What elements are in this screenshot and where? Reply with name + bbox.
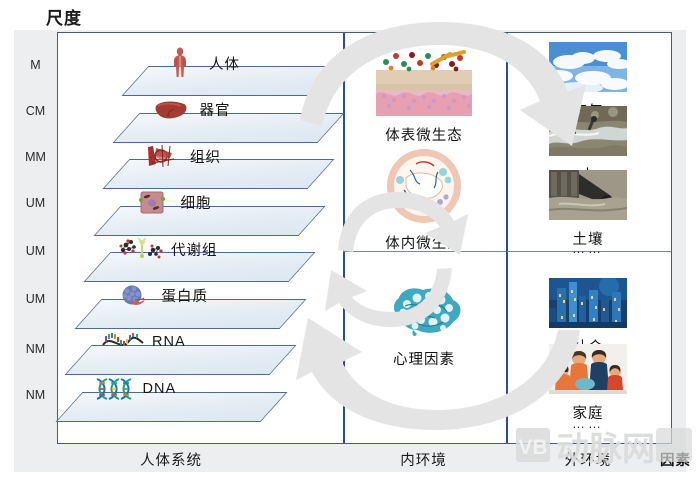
scale-label-2: MM bbox=[14, 150, 57, 164]
gut-microbiome-icon bbox=[386, 148, 462, 229]
sky-clouds-icon bbox=[549, 42, 627, 97]
scale-title: 尺度 bbox=[46, 4, 82, 29]
layer-plane-1[interactable] bbox=[112, 113, 344, 143]
layer-plane-3[interactable] bbox=[93, 206, 325, 236]
scale-label-4: UM bbox=[14, 244, 57, 258]
internal-item-label-0: 体表微生态 bbox=[343, 124, 505, 145]
diagram-canvas: 尺度 MCMMMUMUMUMNMNM 人体器官组织细胞代谢组蛋白质RNADNA … bbox=[0, 0, 700, 480]
layer-plane-0[interactable] bbox=[121, 66, 353, 96]
external-lower-item-1[interactable]: 家庭 bbox=[506, 344, 670, 423]
internal-item-label-1: 体内微生态 bbox=[343, 232, 505, 253]
scale-axis-column: MCMMMUMUMUMNMNM bbox=[14, 32, 57, 444]
water-stream-icon bbox=[549, 106, 627, 161]
layer-plane-6[interactable] bbox=[64, 345, 296, 375]
scale-label-1: CM bbox=[14, 104, 57, 118]
external-lower-more: …… bbox=[506, 416, 670, 431]
scale-label-5: UM bbox=[14, 292, 57, 306]
factor-label: 因素 bbox=[660, 449, 691, 470]
layer-plane-2[interactable] bbox=[102, 159, 334, 189]
caption-body-system: 人体系统 bbox=[57, 449, 285, 470]
external-upper-more: …… bbox=[506, 241, 670, 256]
internal-lower-item-0[interactable]: 心理因素 bbox=[343, 284, 505, 369]
soil-pipe-icon bbox=[549, 170, 627, 225]
skin-microbiome-icon bbox=[376, 50, 472, 121]
brain-icon bbox=[385, 284, 463, 345]
internal-item-1[interactable]: 体内微生态 bbox=[343, 148, 505, 253]
scale-label-0: M bbox=[14, 58, 57, 72]
layer-plane-5[interactable] bbox=[74, 299, 306, 329]
internal-item-0[interactable]: 体表微生态 bbox=[343, 50, 505, 145]
layer-plane-7[interactable] bbox=[55, 392, 287, 422]
family-icon bbox=[549, 344, 627, 399]
scale-label-6: NM bbox=[14, 342, 57, 356]
internal-lower-item-label-0: 心理因素 bbox=[343, 348, 505, 369]
city-skyline-icon bbox=[549, 278, 627, 333]
layer-plane-4[interactable] bbox=[83, 252, 315, 282]
scale-label-7: NM bbox=[14, 388, 57, 402]
caption-internal-env: 内环境 bbox=[342, 449, 505, 470]
external-item-2[interactable]: 土壤 bbox=[506, 170, 670, 249]
scale-label-3: UM bbox=[14, 196, 57, 210]
caption-external-env: 外环境 bbox=[506, 449, 670, 470]
